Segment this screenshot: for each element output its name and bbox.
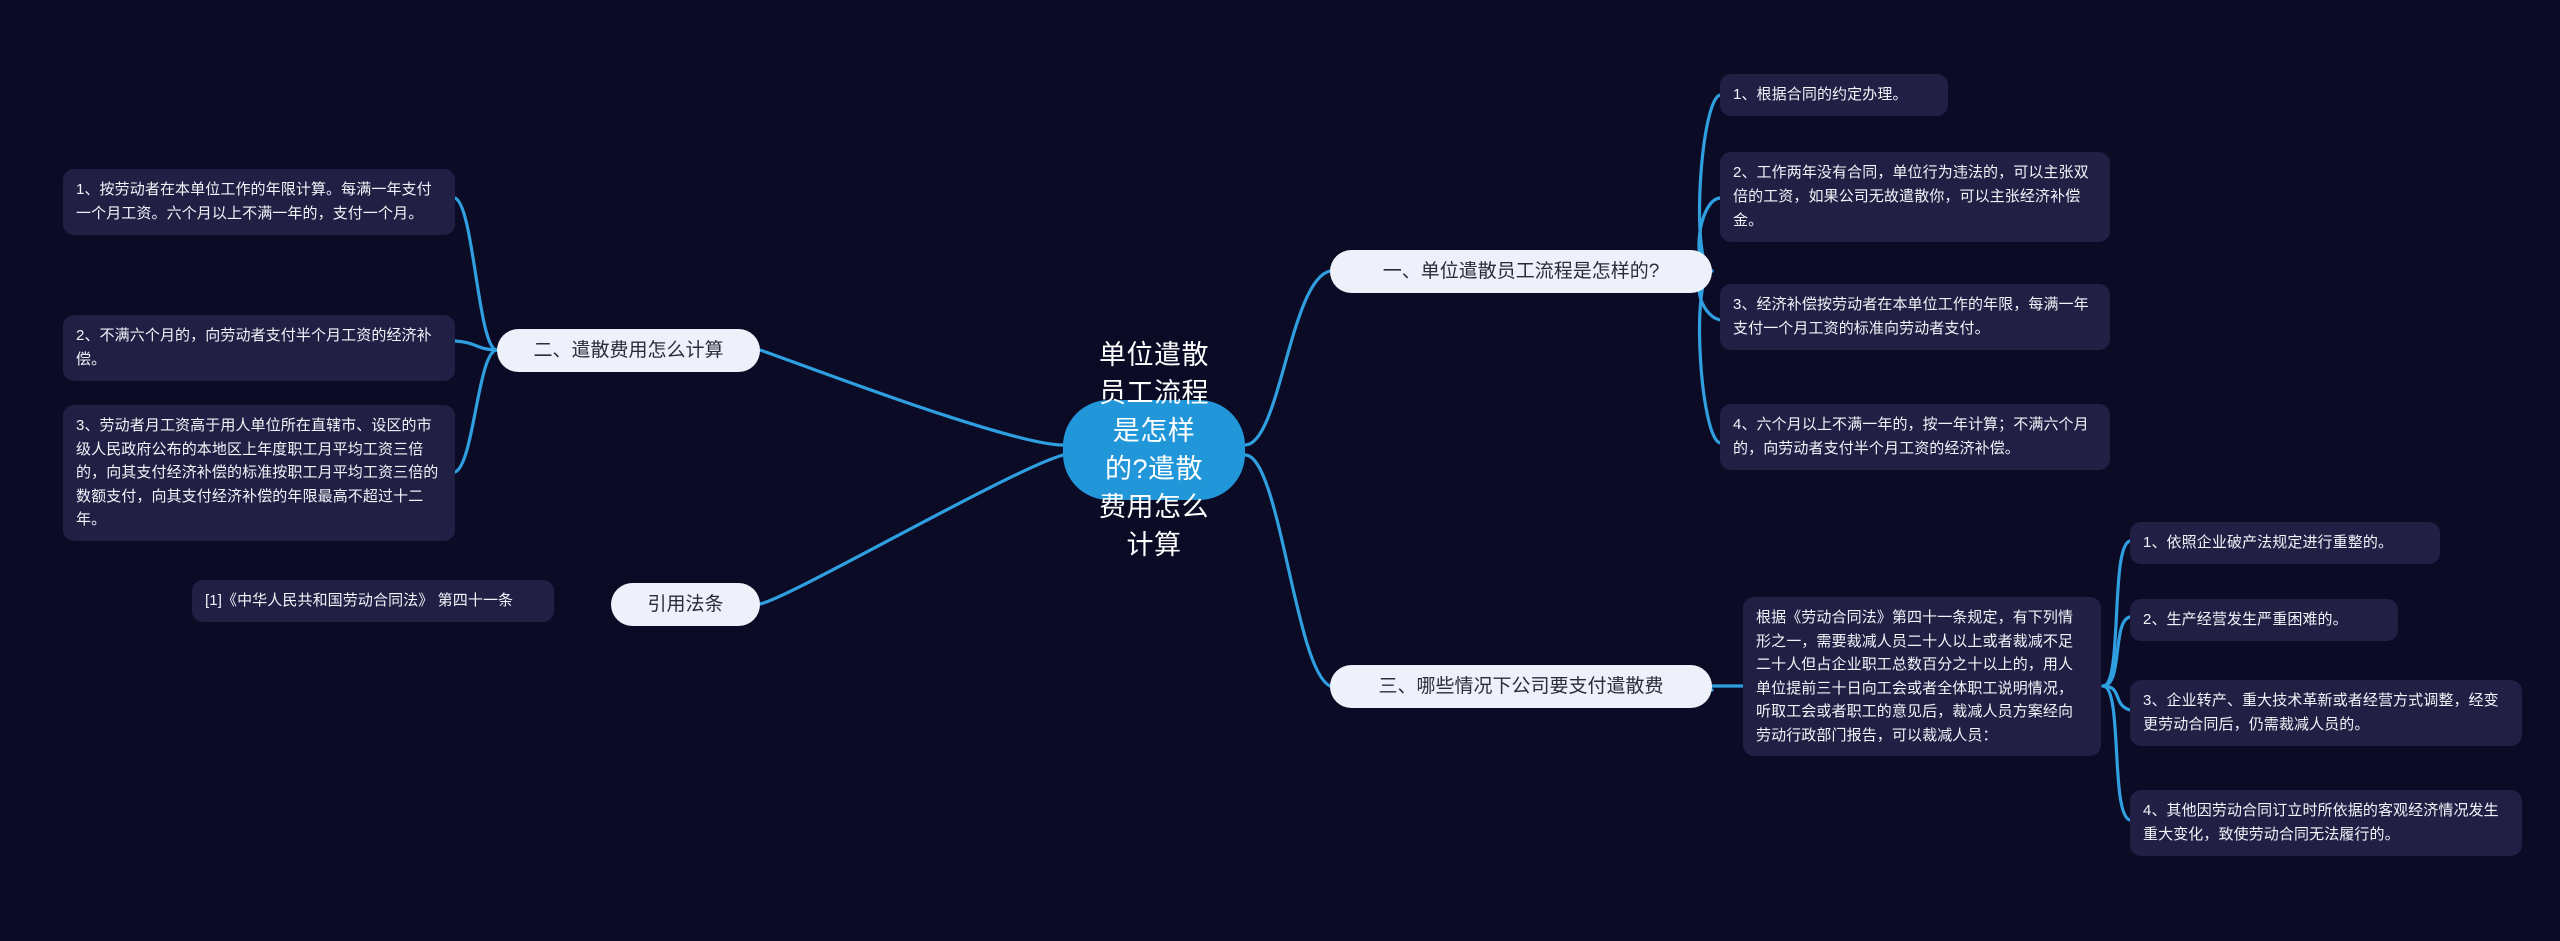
leaf-b3-c1[interactable]: 根据《劳动合同法》第四十一条规定，有下列情形之一，需要裁减人员二十人以上或者裁减… <box>1743 597 2101 756</box>
branch-node-two-label: 二、遣散费用怎么计算 <box>533 338 723 364</box>
leaf-b1-c3[interactable]: 3、经济补偿按劳动者在本单位工作的年限，每满一年支付一个月工资的标准向劳动者支付… <box>1720 284 2110 350</box>
edge-b3-g3 <box>2103 686 2130 710</box>
leaf-b3-c1-label: 根据《劳动合同法》第四十一条规定，有下列情形之一，需要裁减人员二十人以上或者裁减… <box>1756 609 2073 744</box>
root-node-label: 单位遣散员工流程是怎样的?遣散费用怎么计算 <box>1097 336 1211 564</box>
leaf-b3-g3[interactable]: 3、企业转产、重大技术革新或者经营方式调整，经变更劳动合同后，仍需裁减人员的。 <box>2130 680 2522 746</box>
edge-b3-g4 <box>2103 686 2130 820</box>
leaf-b3-g4-label: 4、其他因劳动合同订立时所依据的客观经济情况发生重大变化，致使劳动合同无法履行的… <box>2143 802 2499 843</box>
leaf-b3-g1[interactable]: 1、依照企业破产法规定进行重整的。 <box>2130 522 2440 564</box>
mindmap-canvas: 单位遣散员工流程是怎样的?遣散费用怎么计算 一、单位遣散员工流程是怎样的? 1、… <box>0 0 2560 941</box>
leaf-b1-c2-label: 2、工作两年没有合同，单位行为违法的，可以主张双倍的工资，如果公司无故遣散你，可… <box>1733 164 2089 229</box>
leaf-b2-c1-label: 1、按劳动者在本单位工作的年限计算。每满一年支付一个月工资。六个月以上不满一年的… <box>76 181 432 222</box>
branch-node-two[interactable]: 二、遣散费用怎么计算 <box>497 329 760 372</box>
leaf-bc-c1[interactable]: [1]《中华人民共和国劳动合同法》 第四十一条 <box>192 580 554 622</box>
leaf-b3-g4[interactable]: 4、其他因劳动合同订立时所依据的客观经济情况发生重大变化，致使劳动合同无法履行的… <box>2130 790 2522 856</box>
leaf-b2-c2[interactable]: 2、不满六个月的，向劳动者支付半个月工资的经济补偿。 <box>63 315 455 381</box>
edge-root-branch-two <box>760 350 1063 445</box>
edge-b1-c4 <box>1700 271 1720 443</box>
leaf-b3-g1-label: 1、依照企业破产法规定进行重整的。 <box>2143 534 2393 551</box>
leaf-b1-c4[interactable]: 4、六个月以上不满一年的，按一年计算；不满六个月的，向劳动者支付半个月工资的经济… <box>1720 404 2110 470</box>
leaf-b1-c2[interactable]: 2、工作两年没有合同，单位行为违法的，可以主张双倍的工资，如果公司无故遣散你，可… <box>1720 152 2110 242</box>
edge-b3-g1 <box>2103 541 2130 686</box>
leaf-b3-g3-label: 3、企业转产、重大技术革新或者经营方式调整，经变更劳动合同后，仍需裁减人员的。 <box>2143 692 2499 733</box>
leaf-b1-c4-label: 4、六个月以上不满一年的，按一年计算；不满六个月的，向劳动者支付半个月工资的经济… <box>1733 416 2089 457</box>
edge-root-branch-citation <box>760 455 1063 604</box>
edge-b1-c1 <box>1700 95 1720 271</box>
root-node[interactable]: 单位遣散员工流程是怎样的?遣散费用怎么计算 <box>1063 400 1245 500</box>
leaf-b2-c3-label: 3、劳动者月工资高于用人单位所在直辖市、设区的市级人民政府公布的本地区上年度职工… <box>76 417 438 528</box>
leaf-b1-c1[interactable]: 1、根据合同的约定办理。 <box>1720 74 1948 116</box>
leaf-b2-c3[interactable]: 3、劳动者月工资高于用人单位所在直辖市、设区的市级人民政府公布的本地区上年度职工… <box>63 405 455 541</box>
leaf-b2-c2-label: 2、不满六个月的，向劳动者支付半个月工资的经济补偿。 <box>76 327 432 368</box>
edge-root-branch-one <box>1245 271 1330 445</box>
branch-node-three-label: 三、哪些情况下公司要支付遣散费 <box>1378 674 1663 700</box>
leaf-bc-c1-label: [1]《中华人民共和国劳动合同法》 第四十一条 <box>205 592 513 609</box>
edge-b2-c2 <box>455 341 497 350</box>
branch-node-one-label: 一、单位遣散员工流程是怎样的? <box>1383 259 1660 285</box>
leaf-b2-c1[interactable]: 1、按劳动者在本单位工作的年限计算。每满一年支付一个月工资。六个月以上不满一年的… <box>63 169 455 235</box>
leaf-b3-g2-label: 2、生产经营发生严重困难的。 <box>2143 611 2348 628</box>
edge-root-branch-three <box>1245 455 1330 686</box>
edge-b2-c1 <box>455 198 497 350</box>
branch-node-one[interactable]: 一、单位遣散员工流程是怎样的? <box>1330 250 1712 293</box>
branch-node-three[interactable]: 三、哪些情况下公司要支付遣散费 <box>1330 665 1712 708</box>
branch-node-citation[interactable]: 引用法条 <box>611 583 760 626</box>
leaf-b1-c1-label: 1、根据合同的约定办理。 <box>1733 86 1908 103</box>
edge-b2-c3 <box>455 350 497 472</box>
leaf-b1-c3-label: 3、经济补偿按劳动者在本单位工作的年限，每满一年支付一个月工资的标准向劳动者支付… <box>1733 296 2089 337</box>
branch-node-citation-label: 引用法条 <box>647 592 723 618</box>
leaf-b3-g2[interactable]: 2、生产经营发生严重困难的。 <box>2130 599 2398 641</box>
edge-b3-g2 <box>2103 617 2130 686</box>
